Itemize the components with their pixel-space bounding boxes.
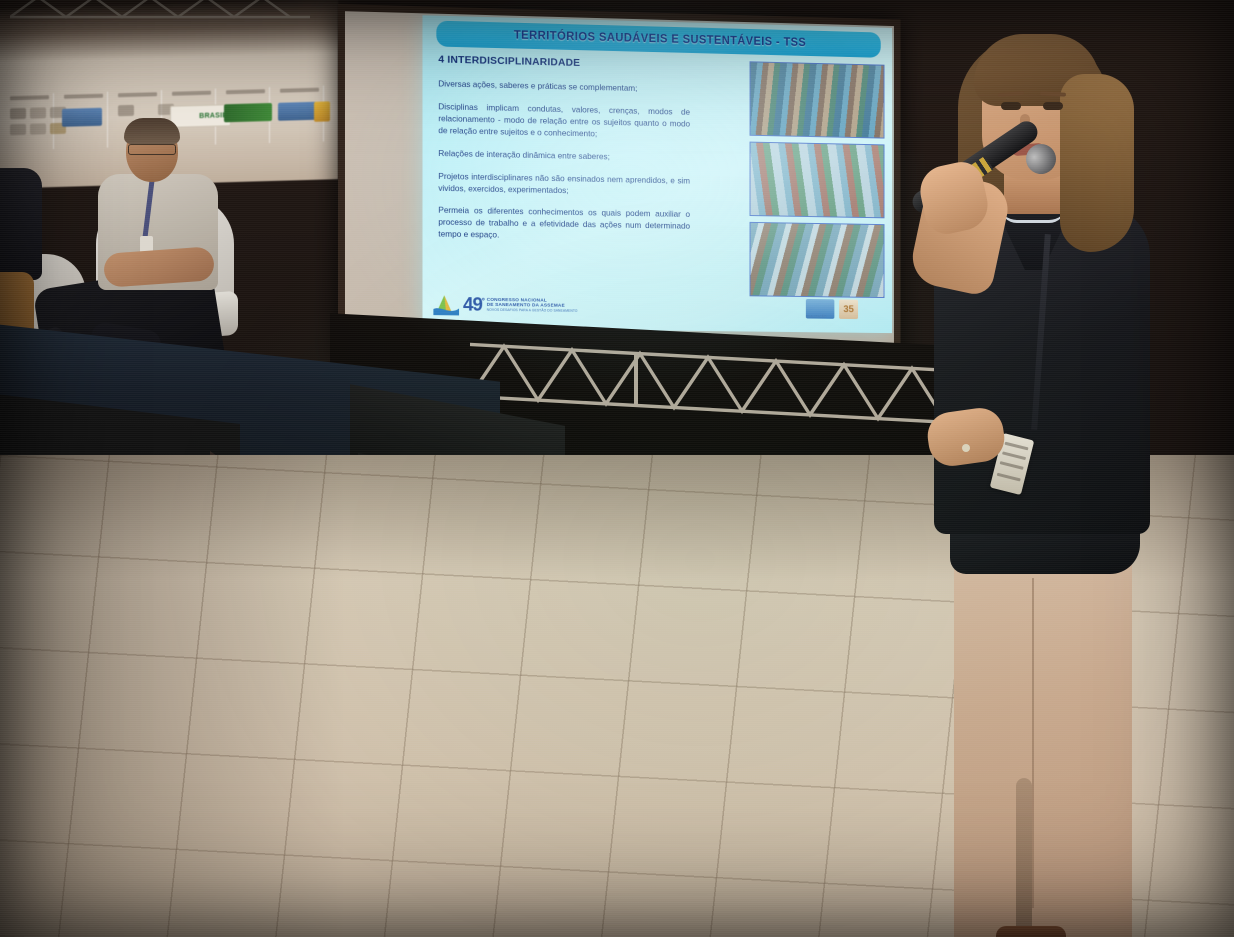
speaker-ring — [962, 444, 970, 452]
slide-paragraph: Projetos interdisciplinares não são ensi… — [438, 171, 690, 199]
slide-photo-column — [750, 61, 885, 304]
speaker-hair-side — [1060, 74, 1134, 252]
sponsor-caption-bar — [118, 92, 157, 97]
congress-logo-text: CONGRESSO NACIONAL DE SANEAMENTO DA ASSE… — [487, 298, 578, 314]
speaker-shoe — [996, 926, 1066, 937]
slide-photo — [750, 222, 885, 298]
slide-paragraph: Relações de interação dinâmica entre sab… — [438, 148, 690, 165]
slide-paragraph: Diversas ações, saberes e práticas se co… — [438, 78, 690, 96]
sponsor-caption-bar — [10, 95, 49, 100]
panelist-hair — [124, 118, 180, 144]
slide-title-bar: TERRITÓRIOS SAUDÁVEIS E SUSTENTÁVEIS - T… — [436, 21, 880, 58]
trouser-seam — [1032, 578, 1034, 908]
photo-shade — [751, 143, 884, 218]
projection-screen: TERRITÓRIOS SAUDÁVEIS E SUSTENTÁVEIS - T… — [338, 4, 901, 367]
photo-shade — [751, 62, 884, 137]
glasses-icon — [128, 144, 176, 155]
slide-section-heading: 4 INTERDISCIPLINARIDADE — [438, 54, 690, 72]
speaker-person — [900, 18, 1234, 937]
slide-photo — [750, 61, 885, 138]
sponsor-caption-bar — [172, 91, 211, 96]
congress-logo-icon — [432, 291, 460, 317]
conference-photo-scene: BRASIL — [0, 0, 1234, 937]
badge-text-line — [1000, 461, 1024, 470]
speaker-eye — [1043, 102, 1063, 110]
anniversary-badge: 35 — [839, 299, 858, 319]
slide-title: TERRITÓRIOS SAUDÁVEIS E SUSTENTÁVEIS - T… — [514, 30, 806, 49]
badge-text-line — [997, 473, 1021, 482]
realization-label: REALIZAÇÃO — [806, 315, 826, 319]
realization-logos: REALIZAÇÃO 35 — [806, 299, 885, 319]
slide-paragraph: Disciplinas implicam condutas, valores, … — [438, 101, 690, 142]
congress-number: 49º — [463, 295, 484, 314]
sponsor-caption-bar — [226, 89, 265, 94]
slide-paragraph: Permeia os diferentes conhecimentos os q… — [438, 205, 690, 244]
speaker-trousers — [954, 524, 1132, 937]
speaker-necklace — [1000, 206, 1066, 223]
sponsor-logo-mark — [278, 102, 318, 121]
sponsor-cell — [274, 86, 324, 143]
congress-logo: 49º CONGRESSO NACIONAL DE SANEAMENTO DA … — [432, 291, 577, 319]
badge-text-line — [1004, 442, 1028, 451]
ceiling-truss-icon — [10, 0, 310, 20]
screen-surface: TERRITÓRIOS SAUDÁVEIS E SUSTENTÁVEIS - T… — [345, 11, 894, 360]
badge-text-line — [1002, 451, 1026, 460]
sponsor-logo-mark — [314, 101, 330, 121]
trouser-leg-gap — [1016, 778, 1032, 937]
speaker-eye — [1001, 102, 1021, 110]
sponsor-caption-bar — [64, 94, 103, 99]
sponsor-caption-bar — [280, 88, 319, 93]
slide-body: 4 INTERDISCIPLINARIDADE Diversas ações, … — [438, 54, 690, 256]
presentation-slide: TERRITÓRIOS SAUDÁVEIS E SUSTENTÁVEIS - T… — [423, 15, 893, 333]
slide-photo — [750, 142, 885, 219]
photo-shade — [751, 223, 884, 297]
